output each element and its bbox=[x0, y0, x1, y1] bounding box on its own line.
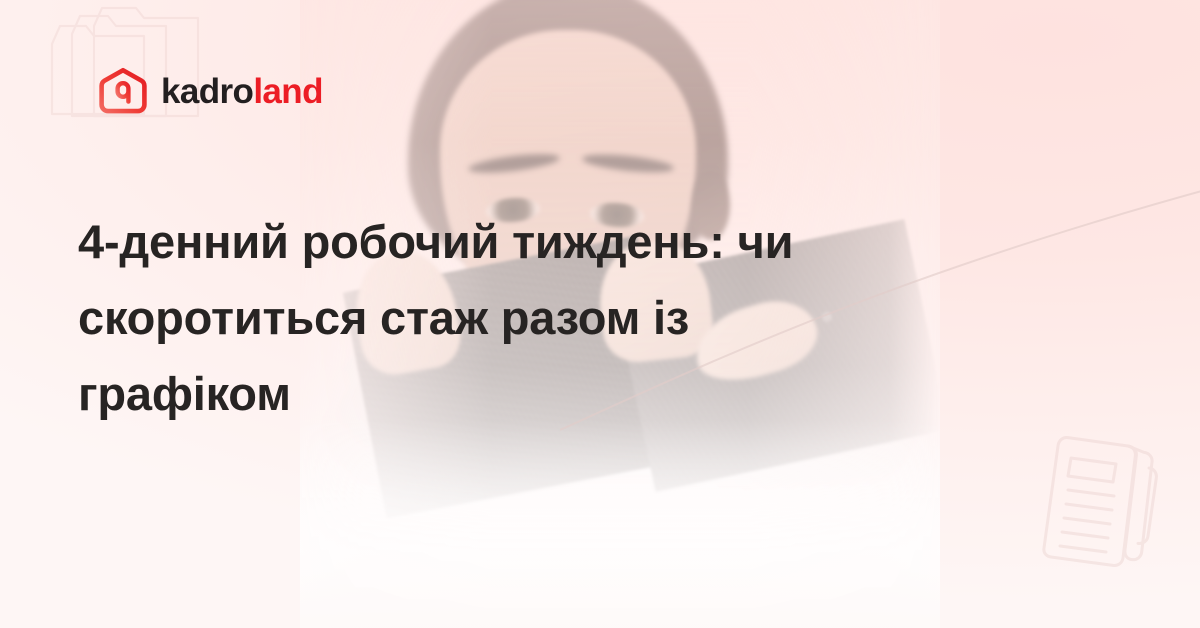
brand-logo-wordmark-red: land bbox=[253, 72, 323, 111]
page-title-line-3: графіком bbox=[78, 367, 291, 420]
kadroland-house-logo-icon bbox=[98, 66, 148, 116]
brand-logo[interactable]: kadroland bbox=[98, 66, 323, 116]
page-title-line-1: 4-денний робочий тиждень: чи bbox=[78, 215, 793, 268]
page-title-line-2: скоротиться стаж разом із bbox=[78, 291, 689, 344]
page-title: 4-денний робочий тиждень: чи скоротиться… bbox=[78, 204, 958, 432]
social-share-card: kadroland 4-денний робочий тиждень: чи с… bbox=[0, 0, 1200, 628]
photo-bottom-fade bbox=[300, 420, 940, 628]
brand-logo-wordmark: kadroland bbox=[161, 74, 323, 109]
brand-logo-wordmark-dark: kadro bbox=[161, 72, 253, 111]
